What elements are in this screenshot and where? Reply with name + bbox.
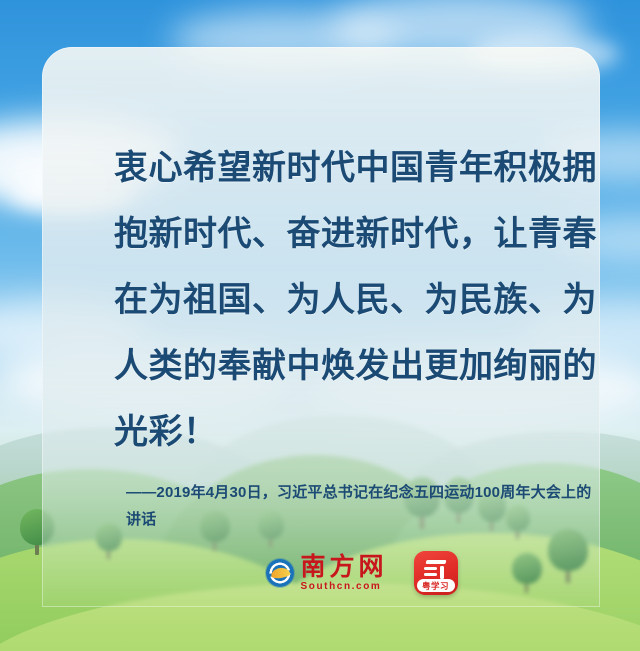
southcn-s-emblem-icon	[266, 559, 294, 587]
logo-row: 南方网 Southcn.com 粤学习	[42, 548, 640, 598]
yuexuexi-label: 粤学习	[417, 579, 455, 592]
quote-text: 衷心希望新时代中国青年积极拥抱新时代、奋进新时代，让青春在为祖国、为人民、为民族…	[114, 135, 614, 465]
southcn-name-cn: 南方网	[300, 554, 387, 579]
quote-card: 衷心希望新时代中国青年积极拥抱新时代、奋进新时代，让青春在为祖国、为人民、为民族…	[42, 47, 600, 607]
southcn-name-en: Southcn.com	[300, 582, 387, 592]
southcn-logo[interactable]: 南方网 Southcn.com	[266, 554, 387, 592]
yuexuexi-app-icon[interactable]: 粤学习	[414, 551, 458, 595]
quote-attribution: ——2019年4月30日，习近平总书记在纪念五四运动100周年大会上的讲话	[126, 479, 606, 533]
quote-poster: 衷心希望新时代中国青年积极拥抱新时代、奋进新时代，让青春在为祖国、为人民、为民族…	[0, 0, 640, 651]
